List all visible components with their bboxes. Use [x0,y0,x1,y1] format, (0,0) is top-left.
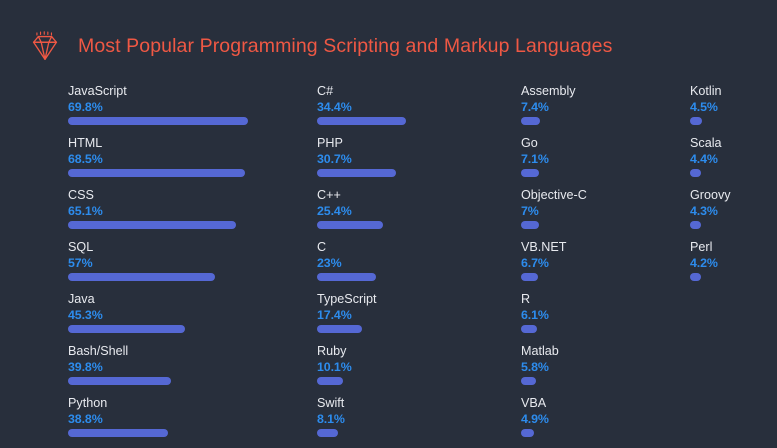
bar-track [317,221,512,229]
language-bar-item: PHP30.7% [317,136,512,177]
bar-fill [317,273,376,281]
language-bar-item: Bash/Shell39.8% [68,344,308,385]
language-percentage: 69.8% [68,99,308,115]
bar-fill [521,325,537,333]
language-percentage: 57% [68,255,308,271]
language-percentage: 4.3% [690,203,770,219]
bar-track [68,117,308,125]
bar-track [68,429,308,437]
language-bar-item: Go7.1% [521,136,686,177]
bar-track [521,325,686,333]
bar-track [68,169,308,177]
language-percentage: 4.4% [690,151,770,167]
language-bar-item: Ruby10.1% [317,344,512,385]
bar-track [317,429,512,437]
language-bar-item: C23% [317,240,512,281]
language-bar-item: C++25.4% [317,188,512,229]
bar-track [690,273,770,281]
bar-track [317,169,512,177]
language-percentage: 39.8% [68,359,308,375]
language-bar-item: Swift8.1% [317,396,512,437]
language-bar-item: JavaScript69.8% [68,84,308,125]
language-percentage: 6.7% [521,255,686,271]
bar-track [521,117,686,125]
bar-fill [317,221,383,229]
language-label: Groovy [690,188,770,203]
bar-fill [68,117,248,125]
language-label: Scala [690,136,770,151]
bar-column-2: C#34.4%PHP30.7%C++25.4%C23%TypeScript17.… [317,84,512,448]
chart-header: Most Popular Programming Scripting and M… [26,28,612,66]
language-label: CSS [68,188,308,203]
language-bar-item: R6.1% [521,292,686,333]
language-label: Go [521,136,686,151]
bar-fill [521,169,539,177]
bar-track [690,117,770,125]
language-bar-item: SQL57% [68,240,308,281]
language-percentage: 7.1% [521,151,686,167]
bar-fill [317,117,406,125]
language-bar-item: CSS65.1% [68,188,308,229]
language-percentage: 38.8% [68,411,308,427]
bar-track [317,117,512,125]
language-label: Swift [317,396,512,411]
language-label: Objective-C [521,188,686,203]
language-label: Assembly [521,84,686,99]
bar-track [690,221,770,229]
language-bar-item: Kotlin4.5% [690,84,770,125]
language-label: TypeScript [317,292,512,307]
language-label: Kotlin [690,84,770,99]
language-bar-item: HTML68.5% [68,136,308,177]
bar-track [317,377,512,385]
bar-fill [690,273,701,281]
bar-fill [690,117,702,125]
chart-canvas: Most Popular Programming Scripting and M… [0,0,777,443]
bar-track [521,169,686,177]
language-label: Ruby [317,344,512,359]
language-percentage: 17.4% [317,307,512,323]
language-percentage: 5.8% [521,359,686,375]
language-percentage: 4.2% [690,255,770,271]
language-percentage: 10.1% [317,359,512,375]
language-label: JavaScript [68,84,308,99]
bar-fill [68,169,245,177]
language-percentage: 45.3% [68,307,308,323]
language-label: Java [68,292,308,307]
language-percentage: 65.1% [68,203,308,219]
bar-track [521,273,686,281]
language-label: PHP [317,136,512,151]
language-label: VB.NET [521,240,686,255]
language-bar-item: Scala4.4% [690,136,770,177]
language-bar-item: Python38.8% [68,396,308,437]
language-label: C++ [317,188,512,203]
language-bar-item: Groovy4.3% [690,188,770,229]
language-percentage: 4.5% [690,99,770,115]
language-label: C# [317,84,512,99]
language-bar-item: VBA4.9% [521,396,686,437]
bar-fill [317,169,396,177]
language-label: HTML [68,136,308,151]
language-percentage: 4.9% [521,411,686,427]
bar-track [68,377,308,385]
bar-track [521,221,686,229]
language-percentage: 34.4% [317,99,512,115]
language-bar-item: Matlab5.8% [521,344,686,385]
language-percentage: 25.4% [317,203,512,219]
language-percentage: 6.1% [521,307,686,323]
bar-fill [317,325,362,333]
language-label: VBA [521,396,686,411]
bar-track [690,169,770,177]
bar-fill [68,325,185,333]
bar-fill [317,429,338,437]
language-label: Matlab [521,344,686,359]
bar-fill [521,429,534,437]
bar-column-1: JavaScript69.8%HTML68.5%CSS65.1%SQL57%Ja… [68,84,308,448]
language-bar-item: TypeScript17.4% [317,292,512,333]
language-bar-item: Objective-C7% [521,188,686,229]
bar-track [68,221,308,229]
language-label: SQL [68,240,308,255]
language-label: Perl [690,240,770,255]
diamond-gem-icon [26,28,64,66]
language-percentage: 68.5% [68,151,308,167]
bar-fill [521,377,536,385]
bar-fill [690,169,701,177]
language-label: Bash/Shell [68,344,308,359]
bar-track [317,325,512,333]
page-title: Most Popular Programming Scripting and M… [78,37,612,57]
bar-column-4: Kotlin4.5%Scala4.4%Groovy4.3%Perl4.2% [690,84,770,292]
language-bar-item: Java45.3% [68,292,308,333]
language-percentage: 7.4% [521,99,686,115]
bar-fill [521,221,539,229]
bar-fill [521,117,540,125]
bar-fill [68,273,215,281]
language-percentage: 7% [521,203,686,219]
language-bar-item: Assembly7.4% [521,84,686,125]
bar-fill [68,377,171,385]
bar-track [68,325,308,333]
language-percentage: 23% [317,255,512,271]
language-label: R [521,292,686,307]
language-bar-item: VB.NET6.7% [521,240,686,281]
language-label: Python [68,396,308,411]
bar-fill [68,221,236,229]
bar-fill [68,429,168,437]
bar-fill [317,377,343,385]
language-bar-item: Perl4.2% [690,240,770,281]
bar-track [317,273,512,281]
language-percentage: 30.7% [317,151,512,167]
bar-column-3: Assembly7.4%Go7.1%Objective-C7%VB.NET6.7… [521,84,686,448]
bar-track [68,273,308,281]
bar-track [521,377,686,385]
bar-track [521,429,686,437]
language-percentage: 8.1% [317,411,512,427]
bar-fill [690,221,701,229]
bar-fill [521,273,538,281]
language-label: C [317,240,512,255]
language-bar-item: C#34.4% [317,84,512,125]
